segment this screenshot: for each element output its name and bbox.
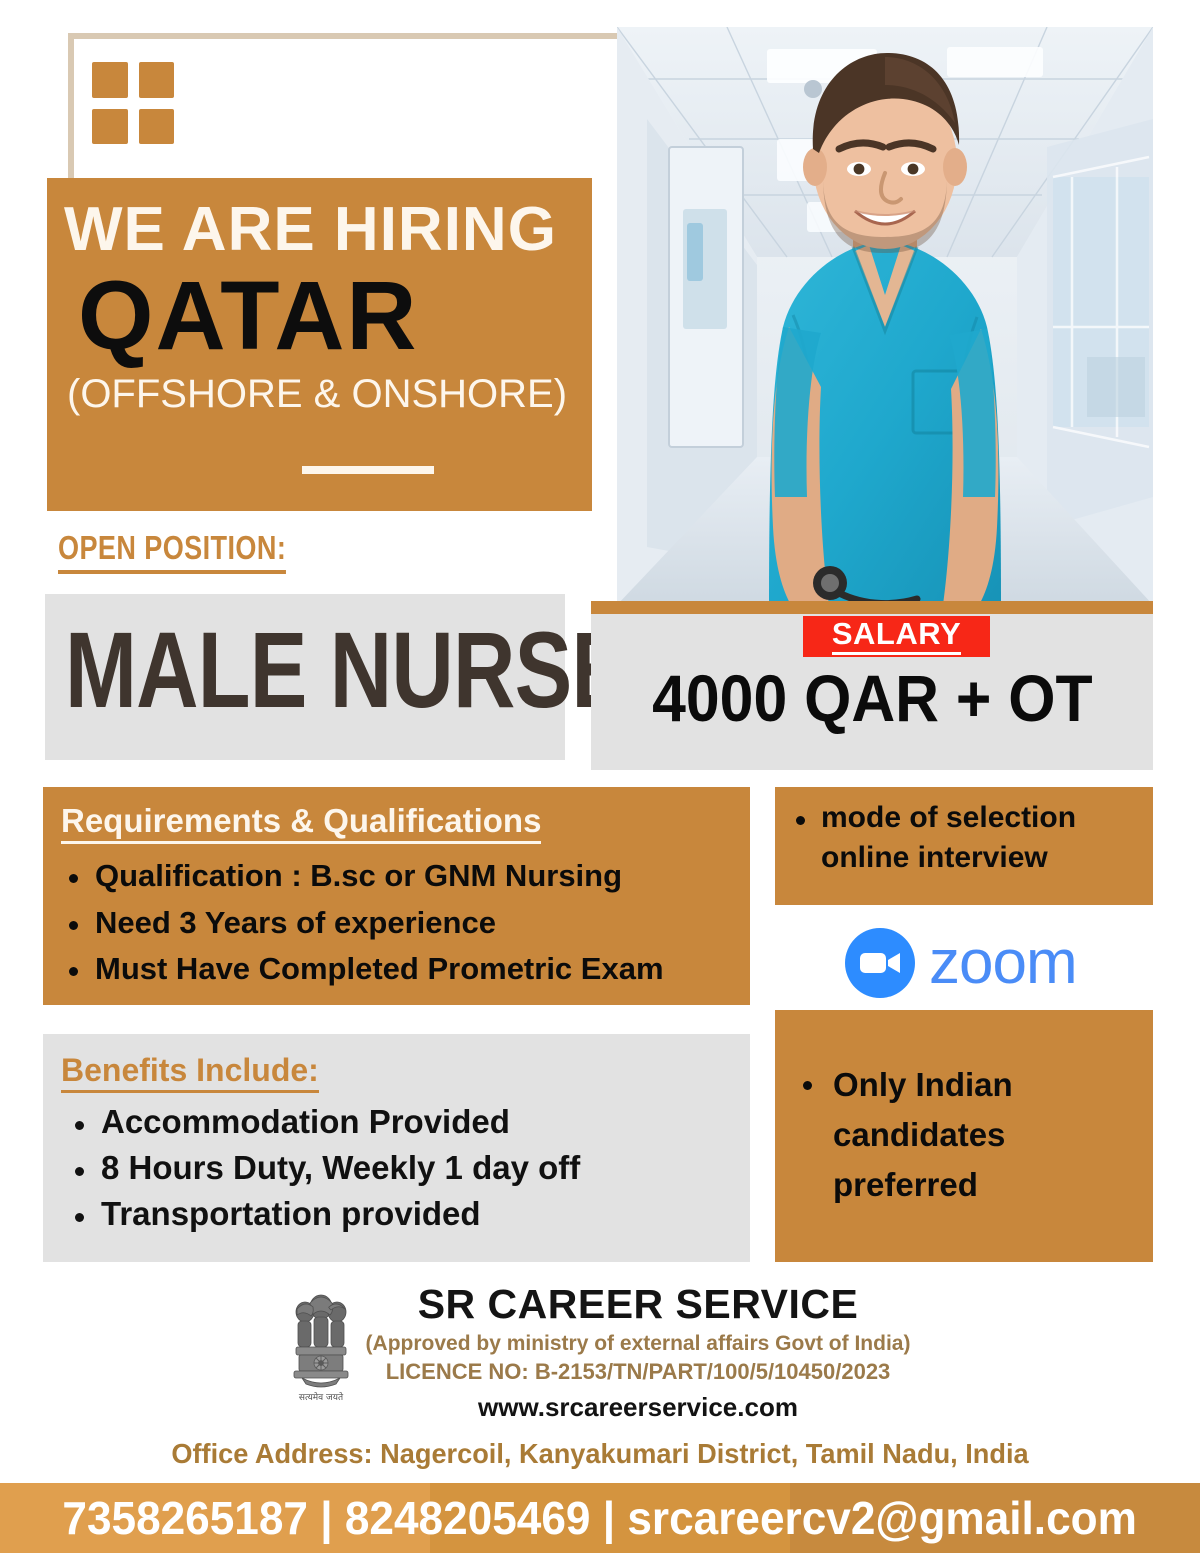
contact-details[interactable]: 7358265187 | 8248205469 | srcareercv2@gm… — [0, 1483, 1200, 1553]
salary-badge: SALARY — [803, 616, 990, 657]
company-name: SR CAREER SERVICE — [366, 1281, 911, 1328]
list-item: Transportation provided — [61, 1191, 732, 1237]
position-title: MALE NURSE — [65, 616, 628, 724]
nationality-list: Only Indian candidates preferred — [797, 1060, 1135, 1210]
position-title-box: MALE NURSE — [45, 594, 565, 760]
benefits-box: Benefits Include: Accommodation Provided… — [43, 1034, 750, 1262]
requirements-box: Requirements & Qualifications Qualificat… — [43, 787, 750, 1005]
contact-bar: 7358265187 | 8248205469 | srcareercv2@gm… — [0, 1483, 1200, 1553]
four-square-grid-icon — [92, 62, 174, 144]
zoom-logo: zoom — [845, 928, 1077, 998]
list-item: Accommodation Provided — [61, 1099, 732, 1145]
salary-amount: 4000 QAR + OT — [591, 660, 1153, 736]
selection-mode-list: mode of selection online interview — [791, 798, 1143, 877]
list-item: 8 Hours Duty, Weekly 1 day off — [61, 1145, 732, 1191]
requirements-list: Qualification : B.sc or GNM Nursing Need… — [61, 853, 732, 993]
list-item: mode of selection online interview — [791, 798, 1143, 877]
headline-subtitle: (OFFSHORE & ONSHORE) — [67, 374, 592, 414]
salary-divider-bar — [591, 601, 1153, 614]
list-item: Only Indian candidates preferred — [797, 1060, 1135, 1210]
india-state-emblem-icon: सत्यमेव जयते — [290, 1287, 352, 1405]
list-item: Need 3 Years of experience — [61, 900, 732, 947]
list-item: Must Have Completed Prometric Exam — [61, 946, 732, 993]
company-licence: LICENCE NO: B-2153/TN/PART/100/5/10450/2… — [366, 1358, 911, 1386]
headline-block: WE ARE HIRING QATAR (OFFSHORE & ONSHORE) — [47, 178, 592, 511]
salary-badge-label: SALARY — [832, 618, 961, 655]
headline-underline-rule — [302, 466, 434, 474]
selection-mode-box: mode of selection online interview — [775, 787, 1153, 905]
benefits-list: Accommodation Provided 8 Hours Duty, Wee… — [61, 1099, 732, 1238]
zoom-camera-icon — [845, 928, 915, 998]
open-position-label: OPEN POSITION: — [58, 529, 286, 574]
company-approval: (Approved by ministry of external affair… — [366, 1331, 911, 1357]
job-poster: WE ARE HIRING QATAR (OFFSHORE & ONSHORE)… — [0, 0, 1200, 1553]
list-item: Qualification : B.sc or GNM Nursing — [61, 853, 732, 900]
benefits-heading: Benefits Include: — [61, 1052, 319, 1093]
requirements-heading: Requirements & Qualifications — [61, 802, 541, 844]
company-website[interactable]: www.srcareerservice.com — [366, 1391, 911, 1425]
zoom-wordmark: zoom — [929, 932, 1077, 994]
footer: सत्यमेव जयते SR CAREER SERVICE (Approved… — [0, 1281, 1200, 1470]
office-address: Office Address: Nagercoil, Kanyakumari D… — [18, 1438, 1182, 1470]
svg-text:सत्यमेव जयते: सत्यमेव जयते — [298, 1391, 343, 1403]
nurse-photo — [617, 27, 1153, 605]
headline-country: QATAR — [78, 267, 592, 366]
nationality-box: Only Indian candidates preferred — [775, 1010, 1153, 1262]
headline-we-are-hiring: WE ARE HIRING — [64, 200, 592, 261]
